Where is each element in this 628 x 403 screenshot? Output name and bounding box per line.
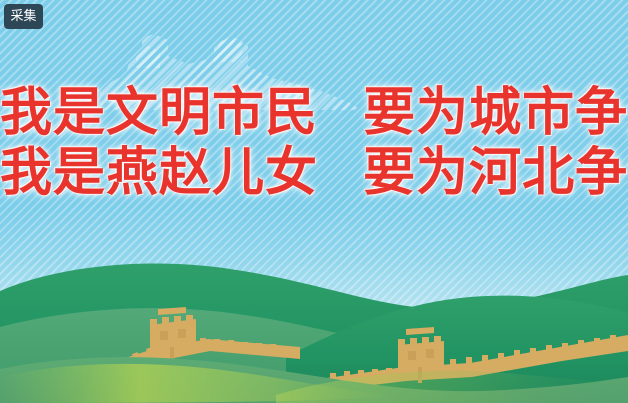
headline-line2-right: 要为河北争气	[363, 146, 628, 200]
headline-line-1: 我是文明市民 要为城市争光	[0, 86, 628, 140]
headline-line2-left: 我是燕赵儿女	[0, 146, 318, 200]
landscape-illustration	[0, 243, 628, 403]
headline-line-2: 我是燕赵儿女 要为河北争气	[0, 146, 628, 200]
headline-line1-right: 要为城市争光	[363, 86, 628, 140]
headline-line1-left: 我是文明市民	[0, 86, 318, 140]
banner-screenshot: 我是文明市民 要为城市争光 我是燕赵儿女 要为河北争气 采集	[0, 0, 628, 403]
banner-headline: 我是文明市民 要为城市争光 我是燕赵儿女 要为河北争气	[0, 86, 628, 206]
capture-button[interactable]: 采集	[4, 4, 43, 29]
